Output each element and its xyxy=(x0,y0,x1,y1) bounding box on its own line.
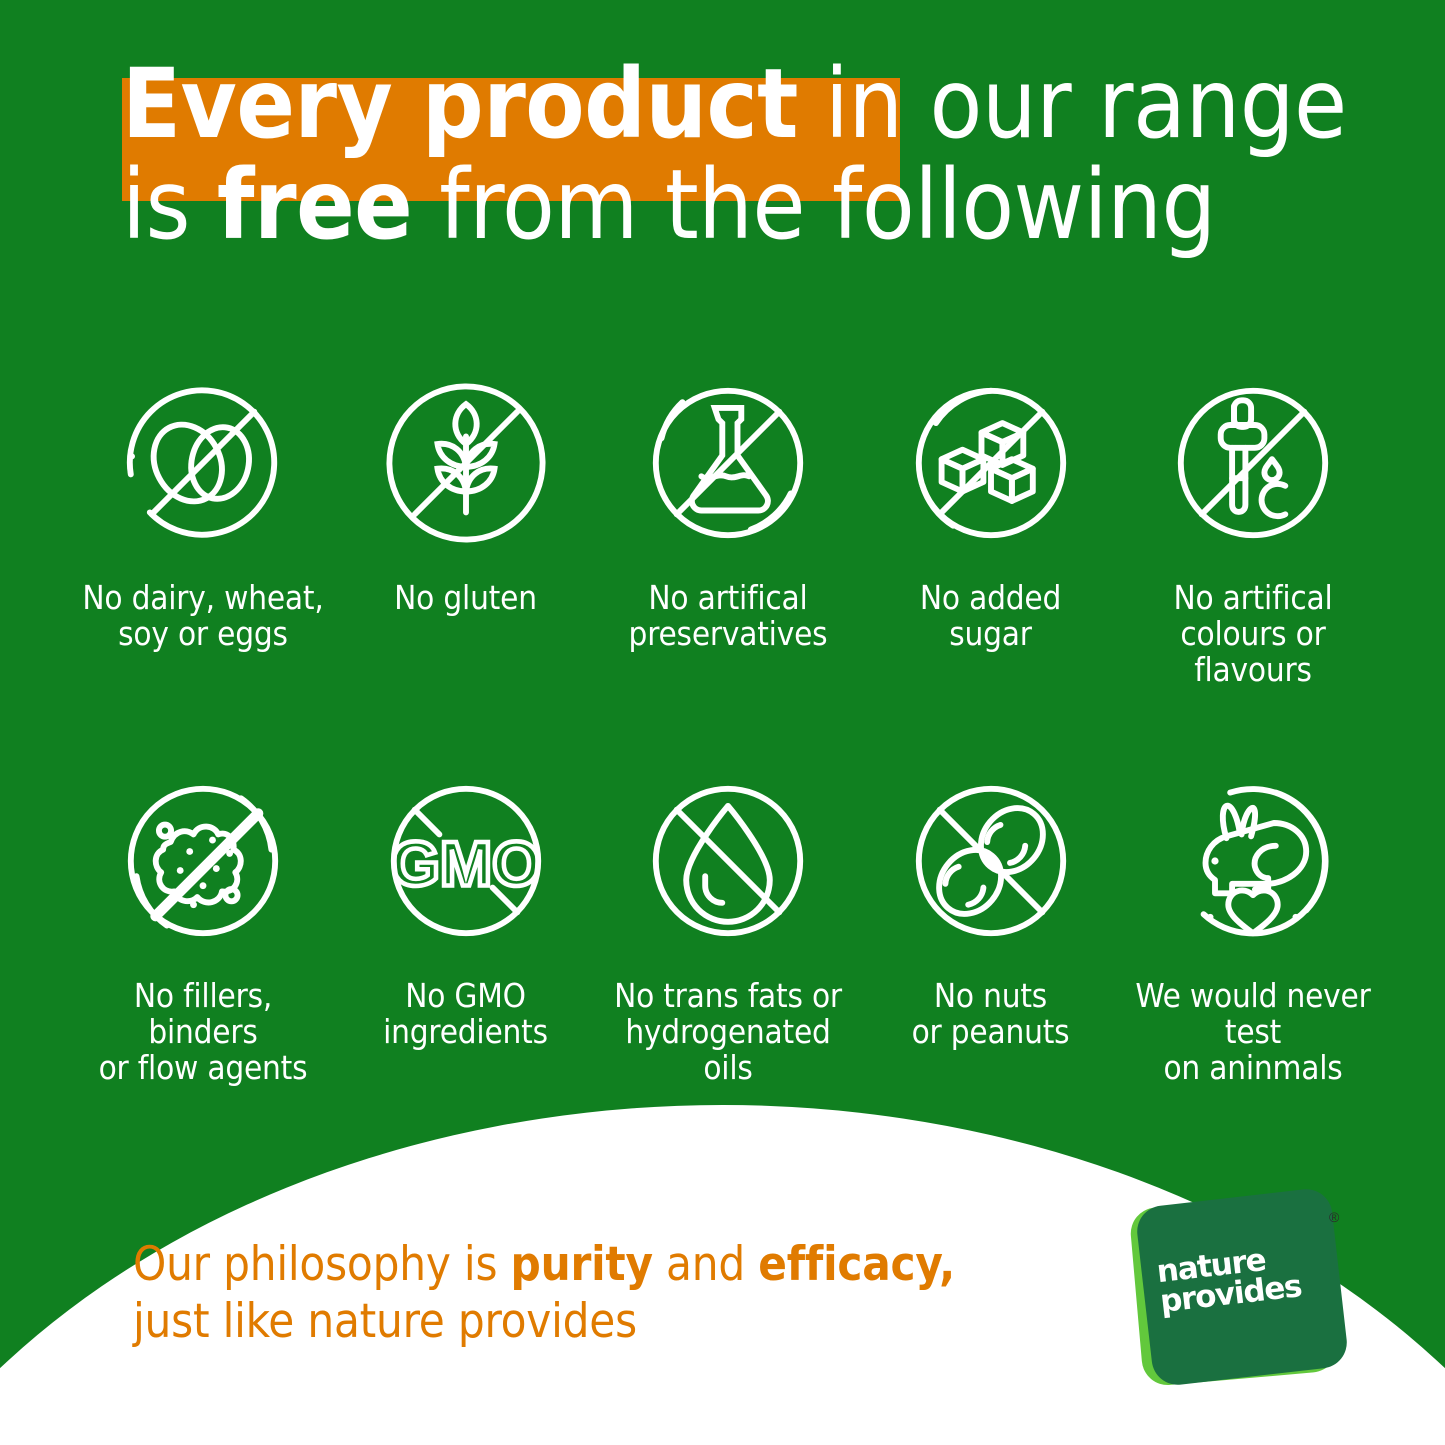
feature-label: No GMO ingredients xyxy=(383,978,548,1050)
feature-item-no-added-sugar: No added sugar xyxy=(866,368,1116,652)
infographic-poster: Every product in our range is free from … xyxy=(0,0,1445,1445)
feature-item-no-nuts: No nuts or peanuts xyxy=(866,766,1116,1050)
no-added-sugar-cubes-icon xyxy=(896,368,1086,558)
feature-item-no-fillers: No fillers, binders or flow agents xyxy=(78,766,328,1086)
feature-item-no-colours-flavours: No artifical colours or flavours xyxy=(1128,368,1378,688)
feature-label: No fillers, binders or flow agents xyxy=(78,978,328,1086)
feature-item-no-dairy: No dairy, wheat, soy or eggs xyxy=(78,368,328,652)
tagline-line-2: just like nature provides xyxy=(133,1293,955,1350)
headline-line-1: Every product in our range xyxy=(122,58,1445,151)
feature-label: No nuts or peanuts xyxy=(912,978,1070,1050)
no-gmo-icon: GMO xyxy=(371,766,561,956)
feature-label: No artifical colours or flavours xyxy=(1128,580,1378,688)
free-from-icon-grid: No dairy, wheat, soy or eggs xyxy=(78,368,1378,1086)
icon-row-2: No fillers, binders or flow agents GMO N… xyxy=(78,766,1378,1086)
headline-line-2: is free from the following xyxy=(122,159,1445,252)
headline-line-2-rest: from the following xyxy=(412,149,1216,261)
no-dairy-wheat-soy-eggs-icon xyxy=(108,368,298,558)
no-fillers-binders-powder-icon xyxy=(108,766,298,956)
brand-logo[interactable]: nature provides ® xyxy=(1132,1195,1362,1400)
tagline-bold-efficacy: efficacy, xyxy=(758,1237,955,1292)
headline-line-2-bold: free xyxy=(217,149,412,261)
never-test-on-animals-rabbit-heart-icon xyxy=(1158,766,1348,956)
feature-item-no-trans-fats: No trans fats or hydrogenated oils xyxy=(603,766,853,1086)
feature-label: No gluten xyxy=(394,580,537,616)
tagline-bold-purity: purity xyxy=(511,1237,653,1292)
no-nuts-peanut-icon xyxy=(896,766,1086,956)
feature-item-no-gluten: No gluten xyxy=(341,368,591,616)
no-gluten-wheat-stalk-icon xyxy=(371,368,561,558)
feature-label: No artifical preservatives xyxy=(629,580,828,652)
no-trans-fats-droplet-icon xyxy=(633,766,823,956)
no-artificial-preservatives-flask-icon xyxy=(633,368,823,558)
headline-line-1-rest: in our range xyxy=(798,48,1347,160)
page-title: Every product in our range is free from … xyxy=(0,58,1445,252)
feature-item-no-preservatives: No artifical preservatives xyxy=(603,368,853,652)
tagline-line-1-mid: and xyxy=(653,1237,758,1292)
feature-label: No trans fats or hydrogenated oils xyxy=(603,978,853,1086)
registered-trademark-icon: ® xyxy=(1329,1209,1339,1225)
feature-item-no-gmo: GMO No GMO ingredients xyxy=(341,766,591,1050)
feature-label: We would never test on aninmals xyxy=(1128,978,1378,1086)
feature-label: No dairy, wheat, soy or eggs xyxy=(82,580,323,652)
feature-label: No added sugar xyxy=(920,580,1061,652)
tagline-line-1-pre: Our philosophy is xyxy=(133,1237,511,1292)
no-artificial-colours-flavours-dropper-icon xyxy=(1158,368,1348,558)
headline-highlight-text: Every product xyxy=(122,48,798,160)
tagline-line-1: Our philosophy is purity and efficacy, xyxy=(133,1236,955,1293)
icon-row-1: No dairy, wheat, soy or eggs xyxy=(78,368,1378,688)
footer-tagline: Our philosophy is purity and efficacy, j… xyxy=(133,1236,955,1351)
feature-item-never-test-on-animals: We would never test on aninmals xyxy=(1128,766,1378,1086)
gmo-label: GMO xyxy=(391,830,541,900)
headline-line-2-pre: is xyxy=(122,149,217,261)
